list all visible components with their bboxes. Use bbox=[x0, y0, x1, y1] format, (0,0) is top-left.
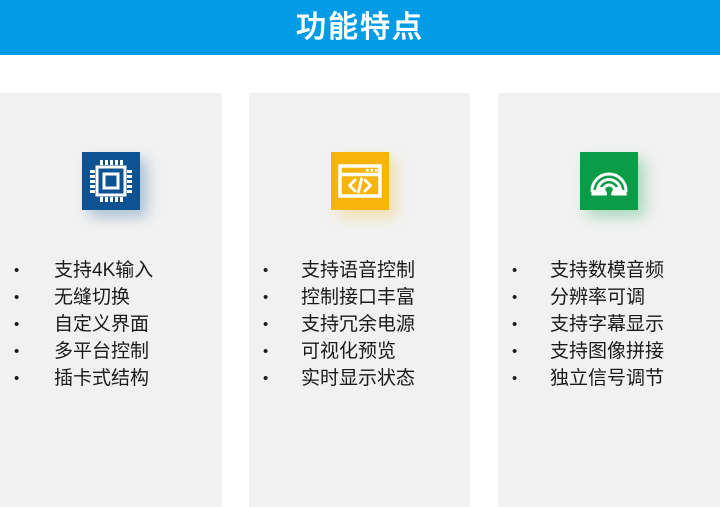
feature-label: 支持4K输入 bbox=[54, 257, 153, 284]
list-item: • 支持冗余电源 bbox=[249, 311, 470, 338]
bullet-icon: • bbox=[263, 317, 279, 332]
list-item: • 可视化预览 bbox=[249, 338, 470, 365]
page-header: 功能特点 bbox=[0, 0, 720, 55]
list-item: • 多平台控制 bbox=[0, 338, 222, 365]
bullet-icon: • bbox=[263, 371, 279, 386]
feature-label: 支持数模音频 bbox=[550, 257, 664, 284]
rainbow-cloud-icon bbox=[580, 152, 638, 210]
code-window-icon bbox=[331, 152, 389, 210]
bullet-icon: • bbox=[14, 290, 30, 305]
list-item: • 支持字幕显示 bbox=[498, 311, 720, 338]
bullet-icon: • bbox=[263, 290, 279, 305]
bullet-icon: • bbox=[14, 317, 30, 332]
icon-shadow bbox=[580, 152, 638, 210]
feature-highlights-page: 功能特点 bbox=[0, 0, 720, 507]
list-item: • 支持4K输入 bbox=[0, 257, 222, 284]
list-item: • 分辨率可调 bbox=[498, 284, 720, 311]
feature-card-3-icon-wrap bbox=[498, 152, 720, 210]
bullet-icon: • bbox=[14, 263, 30, 278]
feature-label: 支持冗余电源 bbox=[301, 311, 415, 338]
feature-card-2-icon-wrap bbox=[249, 152, 470, 210]
feature-label: 插卡式结构 bbox=[54, 365, 149, 392]
feature-label: 可视化预览 bbox=[301, 338, 396, 365]
feature-label: 独立信号调节 bbox=[550, 365, 664, 392]
feature-list-1: • 支持4K输入 • 无缝切换 • 自定义界面 • 多平台控制 • 插卡式结 bbox=[0, 257, 222, 392]
feature-cards-row: • 支持4K输入 • 无缝切换 • 自定义界面 • 多平台控制 • 插卡式结 bbox=[0, 93, 720, 507]
feature-label: 支持字幕显示 bbox=[550, 311, 664, 338]
feature-card-2[interactable]: • 支持语音控制 • 控制接口丰富 • 支持冗余电源 • 可视化预览 • 实 bbox=[249, 93, 470, 507]
icon-shadow bbox=[82, 152, 140, 210]
feature-label: 实时显示状态 bbox=[301, 365, 415, 392]
list-item: • 支持语音控制 bbox=[249, 257, 470, 284]
list-item: • 插卡式结构 bbox=[0, 365, 222, 392]
feature-card-3[interactable]: • 支持数模音频 • 分辨率可调 • 支持字幕显示 • 支持图像拼接 • 独 bbox=[498, 93, 720, 507]
chip-icon bbox=[82, 152, 140, 210]
feature-list-2: • 支持语音控制 • 控制接口丰富 • 支持冗余电源 • 可视化预览 • 实 bbox=[249, 257, 470, 392]
feature-label: 支持语音控制 bbox=[301, 257, 415, 284]
bullet-icon: • bbox=[512, 344, 528, 359]
bullet-icon: • bbox=[263, 263, 279, 278]
bullet-icon: • bbox=[512, 317, 528, 332]
list-item: • 实时显示状态 bbox=[249, 365, 470, 392]
feature-label: 自定义界面 bbox=[54, 311, 149, 338]
list-item: • 支持图像拼接 bbox=[498, 338, 720, 365]
feature-label: 分辨率可调 bbox=[550, 284, 645, 311]
list-item: • 无缝切换 bbox=[0, 284, 222, 311]
bullet-icon: • bbox=[512, 290, 528, 305]
bullet-icon: • bbox=[512, 263, 528, 278]
icon-shadow bbox=[331, 152, 389, 210]
bullet-icon: • bbox=[263, 344, 279, 359]
list-item: • 独立信号调节 bbox=[498, 365, 720, 392]
list-item: • 支持数模音频 bbox=[498, 257, 720, 284]
feature-list-3: • 支持数模音频 • 分辨率可调 • 支持字幕显示 • 支持图像拼接 • 独 bbox=[498, 257, 720, 392]
feature-label: 控制接口丰富 bbox=[301, 284, 415, 311]
list-item: • 控制接口丰富 bbox=[249, 284, 470, 311]
feature-label: 支持图像拼接 bbox=[550, 338, 664, 365]
feature-card-1[interactable]: • 支持4K输入 • 无缝切换 • 自定义界面 • 多平台控制 • 插卡式结 bbox=[0, 93, 222, 507]
feature-card-1-icon-wrap bbox=[0, 152, 222, 210]
bullet-icon: • bbox=[14, 344, 30, 359]
page-title: 功能特点 bbox=[296, 13, 424, 43]
list-item: • 自定义界面 bbox=[0, 311, 222, 338]
bullet-icon: • bbox=[512, 371, 528, 386]
feature-label: 无缝切换 bbox=[54, 284, 130, 311]
bullet-icon: • bbox=[14, 371, 30, 386]
feature-label: 多平台控制 bbox=[54, 338, 149, 365]
